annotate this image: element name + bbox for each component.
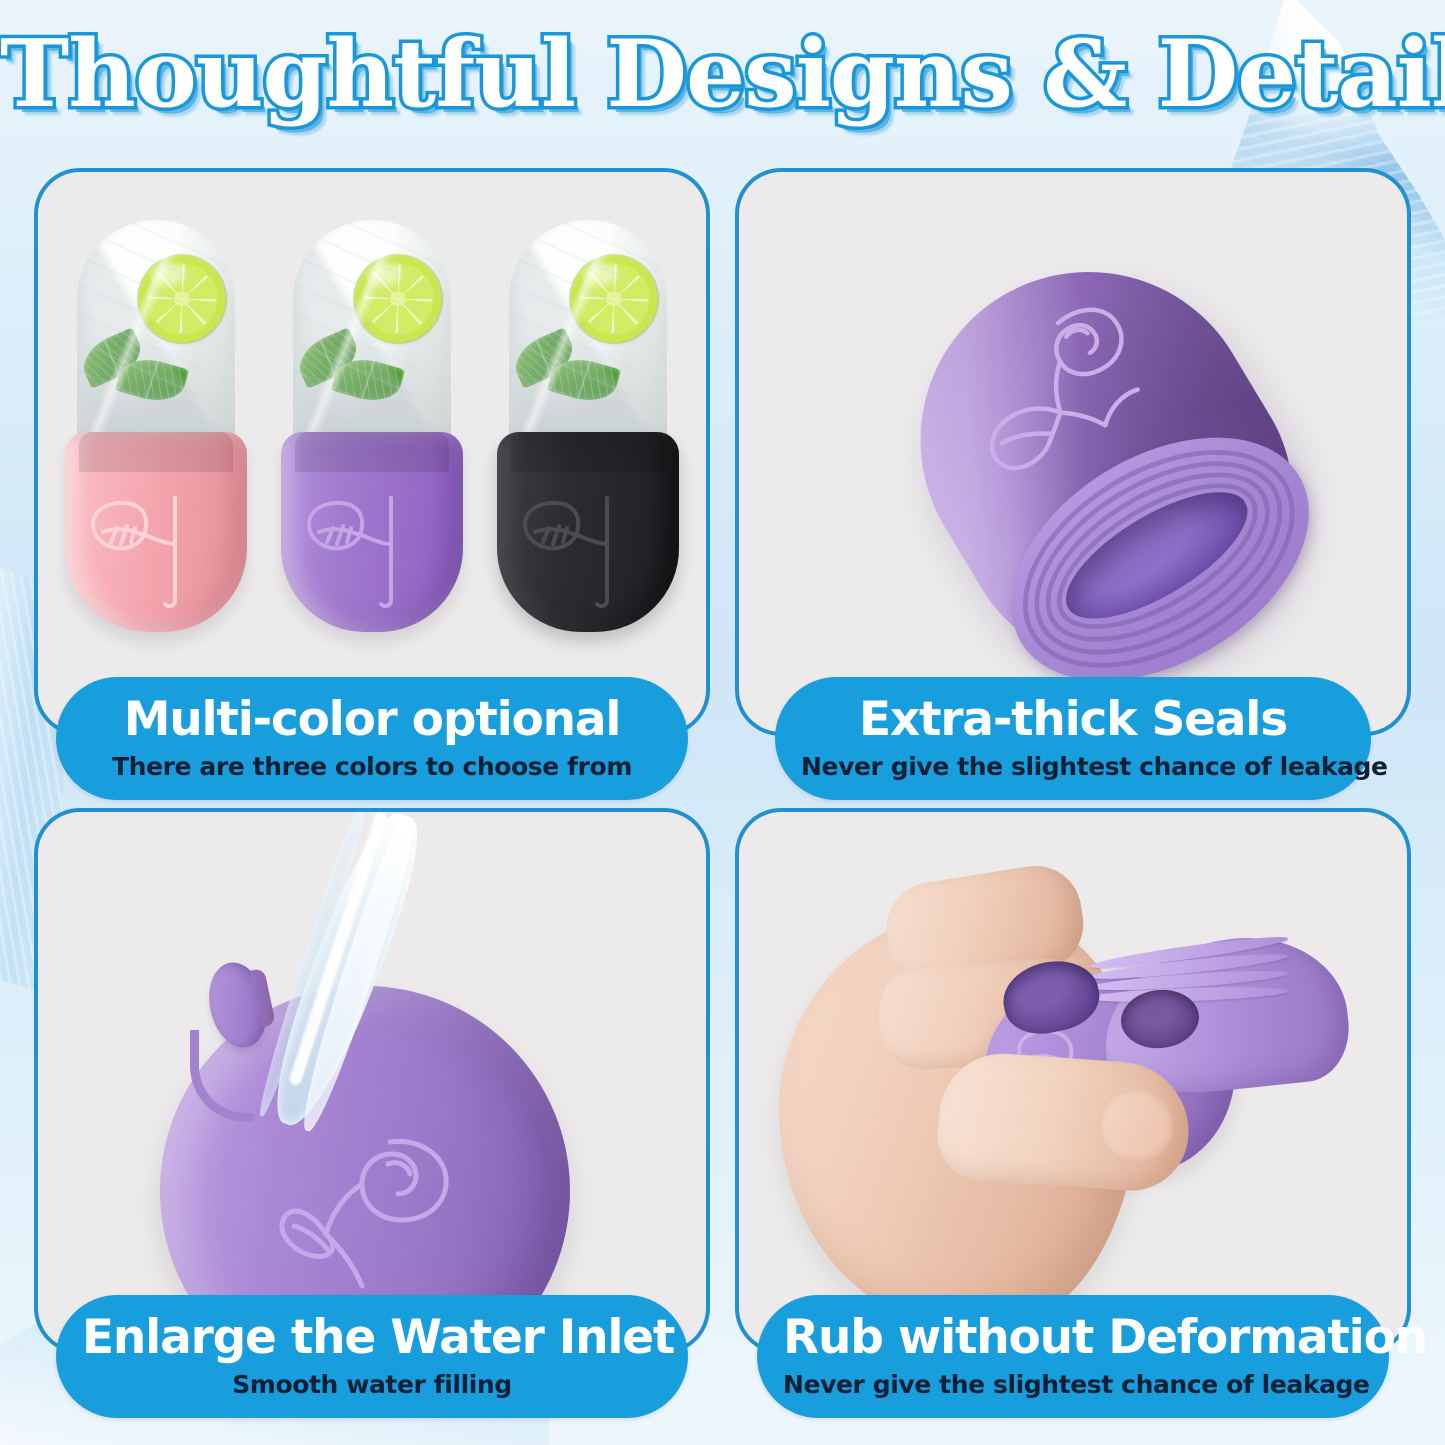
caption-title: Multi-color optional [82, 695, 662, 745]
panel-multi-color [34, 168, 710, 736]
frozen-ice-dome-black [509, 220, 667, 456]
panel-image-extra-thick-seals [739, 172, 1407, 732]
caption-title: Enlarge the Water Inlet [82, 1313, 662, 1363]
feature-cell-extra-thick-seals: Extra-thick Seals Never give the slighte… [723, 168, 1423, 808]
silicone-holder-black [497, 432, 679, 632]
lime-slice-icon [355, 256, 441, 342]
leaf-emboss-icon [299, 488, 431, 612]
panel-water-inlet [34, 808, 710, 1354]
ice-roller-group [38, 220, 706, 650]
page-title-container: Thoughtful Designs & Details [0, 26, 1445, 123]
lime-slice-icon [571, 256, 657, 342]
caption-pill-extra-thick-seals: Extra-thick Seals Never give the slighte… [775, 677, 1371, 800]
feature-cell-multi-color: Multi-color optional There are three col… [22, 168, 722, 808]
caption-title: Extra-thick Seals [801, 695, 1345, 745]
panel-image-rub-without-deformation [739, 812, 1407, 1350]
ice-roller-pink [65, 220, 247, 632]
caption-pill-multi-color: Multi-color optional There are three col… [56, 677, 688, 800]
caption-pill-water-inlet: Enlarge the Water Inlet Smooth water fil… [56, 1295, 688, 1418]
caption-pill-rub-without-deformation: Rub without Deformation Never give the s… [757, 1295, 1389, 1418]
caption-subtitle: Never give the slightest chance of leaka… [783, 1371, 1363, 1399]
frozen-ice-dome-pink [77, 220, 235, 456]
caption-subtitle: Smooth water filling [82, 1371, 662, 1399]
ice-roller-black [497, 220, 679, 632]
mint-leaf-icon [293, 327, 364, 389]
caption-title: Rub without Deformation [783, 1313, 1363, 1363]
lime-slice-icon [139, 256, 225, 342]
page-title: Thoughtful Designs & Details [0, 26, 1445, 123]
panel-image-multi-color [38, 172, 706, 732]
infographic-page: Thoughtful Designs & Details [0, 0, 1445, 1445]
mint-leaf-icon [331, 352, 405, 409]
mint-leaf-icon [115, 352, 189, 409]
panel-rub-without-deformation [735, 808, 1411, 1354]
caption-subtitle: Never give the slightest chance of leaka… [801, 753, 1345, 781]
leaf-emboss-icon [83, 488, 215, 612]
silicone-holder-pink [65, 432, 247, 632]
feature-grid: Multi-color optional There are three col… [22, 168, 1423, 1426]
ice-roller-purple [281, 220, 463, 632]
feature-cell-rub-without-deformation: Rub without Deformation Never give the s… [723, 808, 1423, 1426]
leaf-emboss-icon [515, 488, 647, 612]
silicone-holder-purple [281, 432, 463, 632]
caption-subtitle: There are three colors to choose from [82, 753, 662, 781]
thumb-nail [1097, 1087, 1176, 1164]
mint-leaf-icon [77, 327, 148, 389]
mint-leaf-icon [547, 352, 621, 409]
hand-thumb [935, 1049, 1193, 1194]
panel-image-water-inlet [38, 812, 706, 1350]
frozen-ice-dome-purple [293, 220, 451, 456]
panel-extra-thick-seals [735, 168, 1411, 736]
feature-cell-water-inlet: Enlarge the Water Inlet Smooth water fil… [22, 808, 722, 1426]
mint-leaf-icon [509, 327, 580, 389]
tilted-silicone-cup [858, 209, 1348, 718]
